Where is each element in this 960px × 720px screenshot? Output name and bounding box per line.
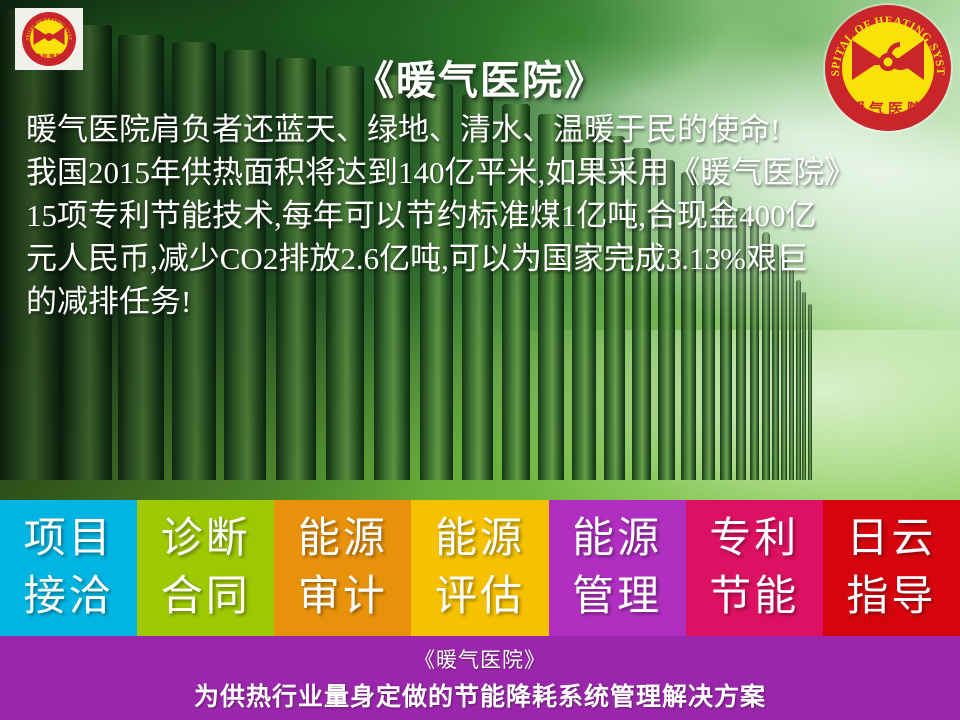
block-line-2: 接洽 bbox=[24, 568, 114, 626]
body-line: 15项专利节能技术,每年可以节约标准煤1亿吨,合现金400亿 bbox=[26, 194, 946, 237]
service-block-energy-audit[interactable]: 能源 审计 bbox=[274, 500, 411, 636]
block-line-2: 评估 bbox=[435, 568, 525, 626]
block-line-2: 合同 bbox=[161, 568, 251, 626]
body-line: 元人民币,减少CO2排放2.6亿吨,可以为国家完成3.13%艰巨 bbox=[26, 237, 946, 280]
block-line-1: 专利 bbox=[709, 510, 799, 568]
service-block-energy-assessment[interactable]: 能源 评估 bbox=[411, 500, 548, 636]
block-line-2: 管理 bbox=[572, 568, 662, 626]
block-line-1: 能源 bbox=[435, 510, 525, 568]
page-title: 《暖气医院》 bbox=[0, 48, 960, 106]
block-line-1: 诊断 bbox=[161, 510, 251, 568]
service-block-patent-energy-saving[interactable]: 专利 节能 bbox=[686, 500, 823, 636]
body-paragraph: 暖气医院肩负者还蓝天、绿地、清水、温暖于民的使命! 我国2015年供热面积将达到… bbox=[26, 108, 946, 323]
block-line-1: 能源 bbox=[298, 510, 388, 568]
block-line-1: 项目 bbox=[24, 510, 114, 568]
footer-brand: 《暖气医院》 bbox=[414, 644, 546, 674]
block-line-2: 审计 bbox=[298, 568, 388, 626]
service-block-daily-guidance[interactable]: 日云 指导 bbox=[823, 500, 960, 636]
service-block-diagnosis-contract[interactable]: 诊断 合同 bbox=[137, 500, 274, 636]
block-line-2: 节能 bbox=[709, 568, 799, 626]
footer-tagline: 为供热行业量身定做的节能降耗系统管理解决方案 bbox=[194, 677, 766, 713]
body-line: 暖气医院肩负者还蓝天、绿地、清水、温暖于民的使命! bbox=[26, 108, 946, 151]
block-line-2: 指导 bbox=[846, 568, 936, 626]
block-line-1: 能源 bbox=[572, 510, 662, 568]
wrench-icon bbox=[32, 25, 66, 51]
service-block-project-contact[interactable]: 项目 接洽 bbox=[0, 500, 137, 636]
block-line-1: 日云 bbox=[846, 510, 936, 568]
body-line: 我国2015年供热面积将达到140亿平米,如果采用《暖气医院》 bbox=[26, 151, 946, 194]
footer-banner: 《暖气医院》 为供热行业量身定做的节能降耗系统管理解决方案 bbox=[0, 636, 960, 720]
slide-root: HOSPITAL OF HEATING SYSTEM 暖气医院 HOSPITAL bbox=[0, 0, 960, 720]
body-line: 的减排任务! bbox=[26, 280, 946, 323]
service-blocks: 项目 接洽 诊断 合同 能源 审计 能源 评估 能源 管理 专利 节能 日云 指… bbox=[0, 500, 960, 636]
service-block-energy-management[interactable]: 能源 管理 bbox=[549, 500, 686, 636]
